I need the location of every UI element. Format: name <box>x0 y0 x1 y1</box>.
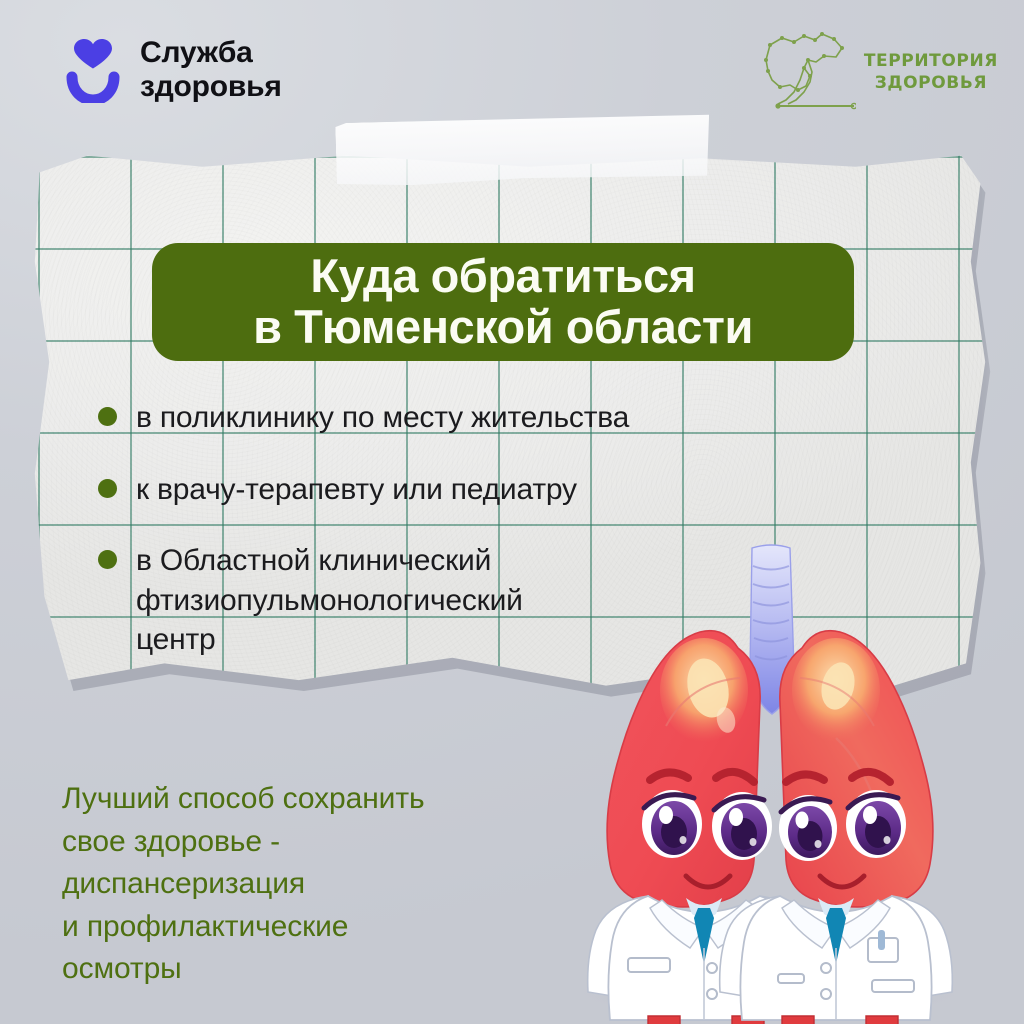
adhesive-tape-strip <box>335 113 711 187</box>
slogan-text: Лучший способ сохранить свое здоровье - … <box>62 778 582 991</box>
list-item-label: в поликлинику по месту жительства <box>136 398 629 438</box>
list-item: к врачу-терапевту или педиатру <box>98 470 888 510</box>
eye-icon <box>846 790 906 858</box>
brand-logo-territoriya-zdorovya: ТЕРРИТОРИЯ ЗДОРОВЬЯ <box>760 30 998 114</box>
bullet-dot-icon <box>98 479 117 498</box>
eye-icon <box>712 792 772 860</box>
brand-logo-sluzhba-zdorovya: Служба здоровья <box>62 36 282 103</box>
banner-title-line-1: Куда обратиться <box>310 251 695 302</box>
list-item: в поликлинику по месту жительства <box>98 398 888 438</box>
infographic-canvas: Служба здоровья <box>0 0 1024 1024</box>
lab-coat-right <box>720 896 953 1020</box>
brand-name-left: Служба здоровья <box>140 36 282 103</box>
heart-smile-logo-icon <box>62 37 124 103</box>
eye-icon <box>779 795 837 861</box>
bullet-dot-icon <box>98 550 117 569</box>
list-item-label: в Областной клинический фтизиопульмоноло… <box>136 541 523 660</box>
eye-icon <box>642 790 702 858</box>
two-lung-mascots-in-lab-coats <box>520 540 1020 1024</box>
list-item-label: к врачу-терапевту или педиатру <box>136 470 577 510</box>
banner-title-line-2: в Тюменской области <box>253 302 753 353</box>
title-banner: Куда обратиться в Тюменской области <box>152 243 854 361</box>
brand-name-right: ТЕРРИТОРИЯ ЗДОРОВЬЯ <box>864 50 998 95</box>
bullet-dot-icon <box>98 407 117 426</box>
region-map-outline-icon <box>760 30 856 114</box>
pen-icon <box>878 930 885 950</box>
